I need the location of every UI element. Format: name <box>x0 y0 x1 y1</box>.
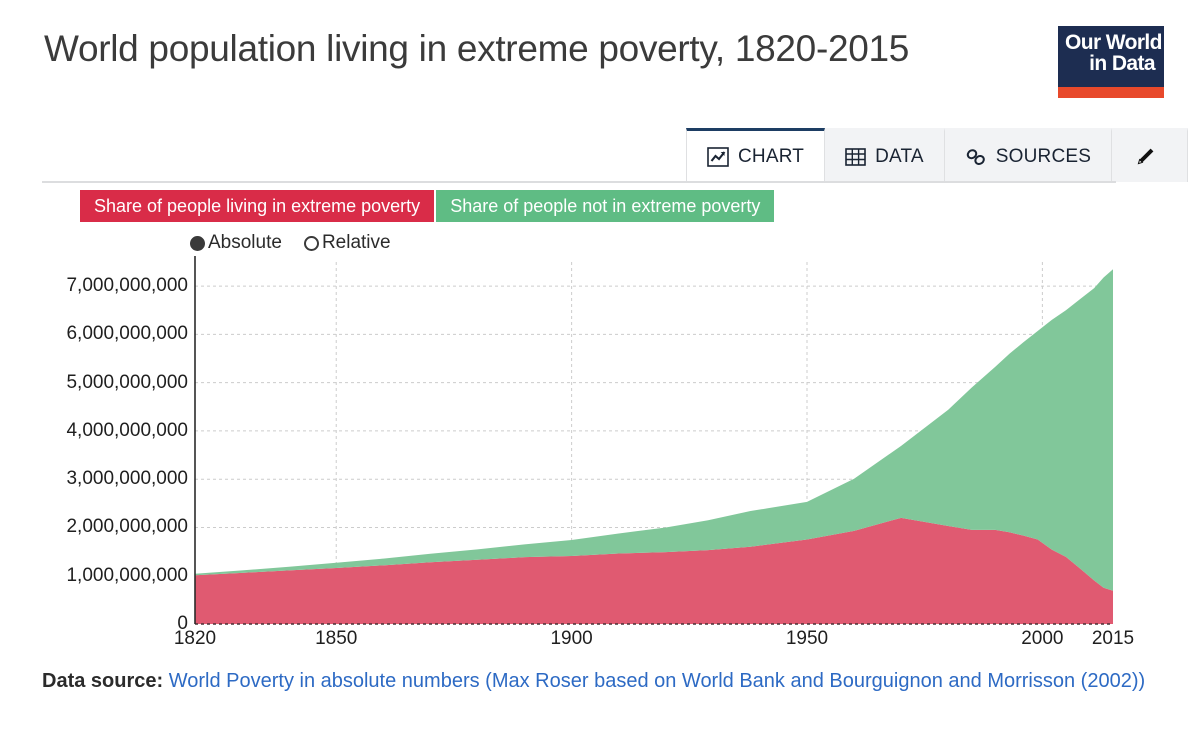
page-title: World population living in extreme pover… <box>44 28 909 70</box>
y-axis-tick: 5,000,000,000 <box>66 372 188 394</box>
logo-line-1: Our World <box>1065 32 1157 53</box>
logo-line-2: in Data <box>1065 53 1157 74</box>
tab-sources[interactable]: SOURCES <box>945 128 1112 182</box>
mode-absolute-label: Absolute <box>208 232 282 254</box>
x-axis-tick: 1950 <box>786 628 828 650</box>
radio-filled-icon <box>190 236 205 251</box>
data-source-label: Data source: <box>42 670 163 692</box>
y-axis-tick: 1,000,000,000 <box>66 565 188 587</box>
chart-tabbar: CHART DATA SOURCES <box>686 128 1188 182</box>
x-axis-tick: 2000 <box>1021 628 1063 650</box>
legend-item-not-in-poverty[interactable]: Share of people not in extreme poverty <box>436 190 774 222</box>
legend-item-not-in-poverty-label: Share of people not in extreme poverty <box>450 196 760 217</box>
tab-sources-label: SOURCES <box>996 146 1091 168</box>
data-source-link[interactable]: World Poverty in absolute numbers (Max R… <box>169 670 1145 692</box>
chart-header: World population living in extreme pover… <box>0 0 1200 118</box>
tabbar-divider <box>42 181 1116 183</box>
table-icon <box>845 147 866 167</box>
logo-accent-bar <box>1058 87 1164 98</box>
legend-item-in-poverty[interactable]: Share of people living in extreme povert… <box>80 190 434 222</box>
x-axis-tick: 1850 <box>315 628 357 650</box>
y-axis-tick: 3,000,000,000 <box>66 468 188 490</box>
pencil-icon <box>1134 146 1156 168</box>
y-axis-tick: 2,000,000,000 <box>66 516 188 538</box>
tab-chart[interactable]: CHART <box>686 128 825 182</box>
x-axis-tick: 2015 <box>1092 628 1134 650</box>
line-chart-icon <box>707 147 729 167</box>
our-world-in-data-logo[interactable]: Our World in Data <box>1058 26 1164 98</box>
x-axis-tick: 1900 <box>550 628 592 650</box>
tab-chart-label: CHART <box>738 146 804 168</box>
chart-legend: Share of people living in extreme povert… <box>80 190 774 222</box>
radio-empty-icon <box>304 236 319 251</box>
tab-data[interactable]: DATA <box>825 128 945 182</box>
stack-mode-toggle: Absolute Relative <box>190 232 391 254</box>
y-axis-tick: 4,000,000,000 <box>66 420 188 442</box>
y-axis-tick: 0 <box>177 613 188 635</box>
y-axis-tick: 6,000,000,000 <box>66 323 188 345</box>
tab-data-label: DATA <box>875 146 924 168</box>
y-axis-tick: 7,000,000,000 <box>66 275 188 297</box>
mode-absolute[interactable]: Absolute <box>190 232 282 254</box>
legend-item-in-poverty-label: Share of people living in extreme povert… <box>94 196 420 217</box>
link-icon <box>965 147 987 167</box>
x-axis-tick: 1820 <box>174 628 216 650</box>
data-source-footer: Data source: World Poverty in absolute n… <box>42 668 1147 695</box>
mode-relative-label: Relative <box>322 232 391 254</box>
mode-relative[interactable]: Relative <box>304 232 391 254</box>
tab-edit[interactable] <box>1112 128 1188 182</box>
